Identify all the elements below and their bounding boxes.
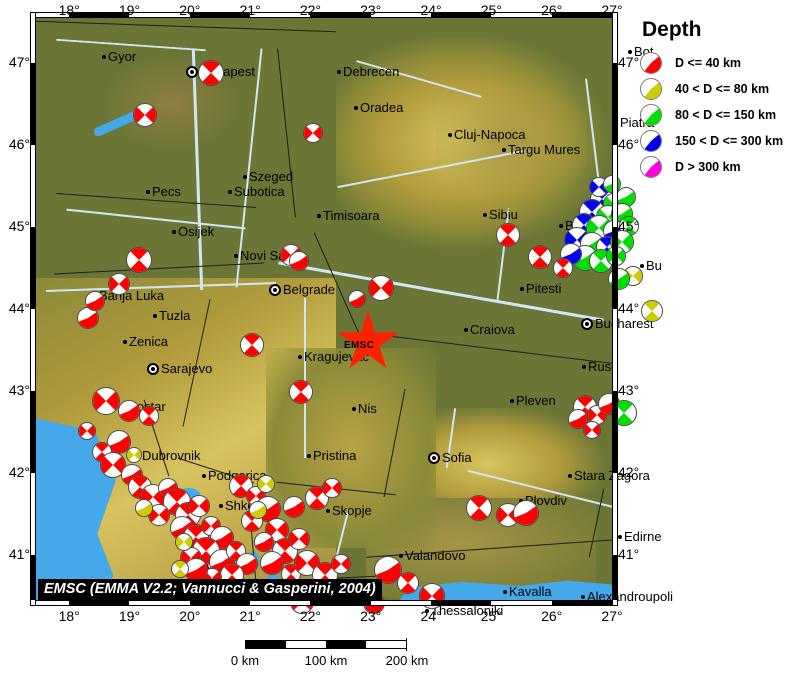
city-dot-icon [219, 504, 223, 508]
city-dot-icon [234, 254, 238, 258]
city-dot-icon [228, 190, 232, 194]
city-dot-icon [352, 407, 356, 411]
lat-tick-label: 47° [0, 54, 30, 70]
city-name: Pleven [516, 393, 556, 408]
city-dot-icon [581, 595, 585, 599]
city-name: Kavalla [509, 584, 552, 599]
scale-seg-1 [246, 641, 286, 648]
frame-tick-segment [613, 63, 617, 145]
focal-mechanism-icon [139, 406, 159, 426]
city-name: Skopje [332, 503, 372, 518]
legend-item-2: 80 < D <= 150 km [640, 102, 790, 128]
lon-tick-label: 21° [240, 2, 261, 18]
city-name: Bu [646, 258, 662, 273]
city-dot-icon [326, 509, 330, 513]
city-name: Belgrade [283, 282, 335, 297]
lon-tick-label: 20° [179, 608, 200, 624]
city-label-craiova: Craiova [464, 322, 515, 336]
city-name: Timisoara [323, 208, 380, 223]
focal-mechanism-icon [133, 103, 157, 127]
scale-seg-4 [366, 641, 406, 648]
scale-bar-labels: 0 km 100 km 200 km [245, 653, 407, 671]
city-dot-icon [582, 365, 586, 369]
lat-tick-label: 46° [618, 136, 639, 152]
focal-mechanism-icon [78, 422, 96, 440]
lon-tick-label: 22° [300, 608, 321, 624]
lat-tick-label: 41° [0, 546, 30, 562]
city-dot-icon [448, 133, 452, 137]
focal-mechanism-icon [640, 130, 662, 152]
legend-rows: D <= 40 km40 < D <= 80 km80 < D <= 150 k… [640, 50, 790, 180]
focal-mechanism-icon [419, 583, 445, 609]
focal-mechanism-icon [303, 123, 323, 143]
focal-mechanism-icon [175, 533, 193, 551]
focal-mechanism-icon [254, 532, 274, 552]
city-label-sofia: Sofia [428, 450, 472, 464]
city-label-pleven: Pleven [510, 393, 556, 407]
lon-tick-label: 19° [119, 2, 140, 18]
focal-mechanism-icon [108, 273, 130, 295]
lon-tick-label: 23° [360, 2, 381, 18]
city-name: Edirne [624, 529, 662, 544]
legend-item-label: 150 < D <= 300 km [675, 134, 783, 148]
city-label-valandovo: Valandovo [399, 548, 465, 562]
city-dot-icon [337, 70, 341, 74]
lat-tick-label: 46° [0, 136, 30, 152]
frame-tick-segment [190, 601, 250, 605]
city-name: Banja Luka [99, 288, 164, 303]
city-label-pecs: Pecs [146, 184, 181, 198]
focal-mechanism-icon [603, 175, 621, 193]
focal-mechanism-icon [257, 475, 275, 493]
city-label-debrecen: Debrecen [337, 64, 399, 78]
focal-mechanism-icon [568, 409, 588, 429]
legend-item-0: D <= 40 km [640, 50, 790, 76]
lon-tick-label: 25° [481, 608, 502, 624]
city-dot-icon [614, 121, 618, 125]
frame-tick-segment [31, 227, 35, 309]
city-label-nis: Nis [352, 401, 377, 415]
frame-tick-segment [69, 601, 129, 605]
lat-tick-label: 41° [618, 546, 639, 562]
city-name: Gyor [108, 49, 136, 64]
city-label-bu: Bu [640, 258, 662, 272]
city-label-edirne: Edirne [618, 529, 662, 543]
focal-mechanism-icon [289, 251, 309, 271]
city-name: Pristina [313, 448, 356, 463]
legend-item-label: 40 < D <= 80 km [675, 82, 769, 96]
focal-mechanism-icon [322, 478, 342, 498]
city-dot-icon [503, 590, 507, 594]
lon-tick-label: 26° [541, 608, 562, 624]
city-dot-icon [581, 318, 593, 330]
scale-bar: 0 km 100 km 200 km [245, 640, 407, 671]
city-dot-icon [269, 284, 281, 296]
focal-mechanism-icon [85, 291, 105, 311]
city-label-ruse: Ruse [582, 359, 618, 373]
city-name: Alexandroupoli [587, 589, 673, 604]
lat-tick-label: 42° [618, 464, 639, 480]
lon-tick-label: 22° [300, 2, 321, 18]
city-dot-icon [502, 148, 506, 152]
city-label-tuzla: Tuzla [153, 308, 190, 322]
city-label-kavalla: Kavalla [503, 584, 552, 598]
legend-item-3: 150 < D <= 300 km [640, 128, 790, 154]
focal-mechanism-icon [528, 245, 552, 269]
focal-mechanism-icon [331, 554, 351, 574]
lon-tick-label: 27° [601, 2, 622, 18]
city-label-osijek: Osijek [172, 224, 214, 238]
legend-item-label: D > 300 km [675, 160, 741, 174]
city-label-targu-mures: Targu Mures [502, 142, 580, 156]
lon-tick-label: 21° [240, 608, 261, 624]
lon-tick-label: 23° [360, 608, 381, 624]
epicenter-label: EMSC [344, 340, 374, 351]
city-label-dubrovnik: Dubrovnik [136, 448, 201, 462]
city-name: Oradea [360, 100, 403, 115]
lat-tick-label: 44° [0, 300, 30, 316]
city-dot-icon [640, 264, 644, 268]
scale-seg-2 [286, 641, 326, 648]
legend-item-1: 40 < D <= 80 km [640, 76, 790, 102]
scale-label-200: 200 km [386, 653, 429, 668]
city-dot-icon [510, 399, 514, 403]
city-name: Sibiu [489, 207, 518, 222]
lat-tick-label: 43° [618, 382, 639, 398]
focal-mechanism-icon [640, 156, 662, 178]
focal-mechanism-icon [640, 78, 662, 100]
city-name: Subotica [234, 184, 285, 199]
scale-label-0: 0 km [231, 653, 259, 668]
city-dot-icon [520, 287, 524, 291]
city-name: Dubrovnik [142, 448, 201, 463]
lat-tick-label: 43° [0, 382, 30, 398]
lon-tick-label: 24° [420, 2, 441, 18]
focal-mechanism-icon [611, 400, 637, 426]
lat-tick-label: 42° [0, 464, 30, 480]
scale-label-100: 100 km [305, 653, 348, 668]
city-label-pristina: Pristina [307, 448, 356, 462]
focal-mechanism-icon [397, 572, 419, 594]
focal-mechanism-icon [126, 247, 152, 273]
focal-mechanism-icon [348, 290, 366, 308]
city-name: Valandovo [405, 548, 465, 563]
city-label-skopje: Skopje [326, 503, 372, 517]
epicenter-marker[interactable]: EMSC [336, 310, 400, 374]
scale-end-tick [406, 638, 407, 651]
scale-bar-segments [245, 640, 407, 649]
lon-tick-label: 24° [420, 608, 441, 624]
city-name: Nis [358, 401, 377, 416]
lat-tick-label: 45° [0, 218, 30, 234]
city-name: Osijek [178, 224, 214, 239]
city-label-subotica: Subotica [228, 184, 285, 198]
city-dot-icon [123, 340, 127, 344]
focal-mechanism-icon [466, 495, 492, 521]
city-name: Szeged [249, 169, 293, 184]
lon-tick-label: 19° [119, 608, 140, 624]
frame-tick-segment [31, 391, 35, 473]
lat-tick-label: 45° [618, 218, 639, 234]
lon-tick-label: 27° [601, 608, 622, 624]
focal-mechanism-icon [126, 447, 142, 463]
city-label-alexandroupoli: Alexandroupoli [581, 589, 673, 603]
city-name: Pitesti [526, 281, 561, 296]
focal-mechanism-icon [92, 387, 120, 415]
city-dot-icon [147, 363, 159, 375]
city-dot-icon [146, 190, 150, 194]
city-dot-icon [464, 328, 468, 332]
focal-mechanism-icon [513, 500, 539, 526]
city-name: Debrecen [343, 64, 399, 79]
focal-mechanism-icon [641, 300, 663, 322]
city-dot-icon [298, 355, 302, 359]
city-dot-icon [153, 314, 157, 318]
city-name: Pecs [152, 184, 181, 199]
focal-mechanism-icon [118, 400, 140, 422]
city-name: Zenica [129, 334, 168, 349]
lon-tick-label: 26° [541, 2, 562, 18]
city-name: Targu Mures [508, 142, 580, 157]
focal-mechanism-icon [171, 560, 189, 578]
city-dot-icon [102, 55, 106, 59]
focal-mechanism-icon [368, 275, 394, 301]
earthquake-map: GyorBudapestDebrecenOradeaCluj-NapocaTar… [36, 18, 612, 600]
city-name: Cluj-Napoca [454, 127, 526, 142]
city-dot-icon [568, 474, 572, 478]
city-dot-icon [354, 106, 358, 110]
city-label-gyor: Gyor [102, 49, 136, 63]
focal-mechanism-icon [289, 380, 313, 404]
legend-item-4: D > 300 km [640, 154, 790, 180]
focal-mechanism-icon [288, 528, 310, 550]
city-name: Ruse [588, 359, 618, 374]
focal-mechanism-icon [249, 501, 267, 519]
city-dot-icon [186, 66, 198, 78]
focal-mechanism-icon [283, 496, 305, 518]
focal-mechanism-icon [553, 258, 573, 278]
river-morava [304, 298, 306, 458]
city-label-timisoara: Timisoara [317, 208, 380, 222]
focal-mechanism-icon [188, 495, 210, 517]
city-label-szeged: Szeged [243, 169, 293, 183]
city-dot-icon [317, 214, 321, 218]
city-dot-icon [483, 213, 487, 217]
focal-mechanism-icon [640, 104, 662, 126]
attribution-banner: EMSC (EMMA V2.2; Vannucci & Gasperini, 2… [38, 579, 382, 600]
focal-mechanism-icon [606, 246, 626, 266]
city-label-zenica: Zenica [123, 334, 168, 348]
city-dot-icon [428, 452, 440, 464]
legend-title: Depth [642, 18, 790, 42]
lon-tick-label: 25° [481, 2, 502, 18]
frame-tick-segment [31, 63, 35, 145]
focal-mechanism-icon [135, 499, 153, 517]
city-name: Sarajevo [161, 361, 212, 376]
city-dot-icon [243, 175, 247, 179]
city-label-sibiu: Sibiu [483, 207, 518, 221]
lon-tick-label: 20° [179, 2, 200, 18]
city-name: Sofia [442, 450, 472, 465]
focal-mechanism-icon [496, 223, 520, 247]
city-name: Tuzla [159, 308, 190, 323]
focal-mechanism-icon [198, 60, 224, 86]
city-dot-icon [399, 554, 403, 558]
city-dot-icon [307, 454, 311, 458]
lat-tick-label: 47° [618, 54, 639, 70]
frame-tick-segment [31, 555, 35, 600]
lat-tick-label: 44° [618, 300, 639, 316]
city-dot-icon [628, 50, 632, 54]
depth-legend: Depth D <= 40 km40 < D <= 80 km80 < D <=… [640, 18, 790, 180]
city-label-sarajevo: Sarajevo [147, 361, 212, 375]
lon-tick-label: 18° [59, 608, 80, 624]
city-dot-icon [559, 224, 563, 228]
city-dot-icon [202, 474, 206, 478]
focal-mechanism-icon [640, 52, 662, 74]
focal-mechanism-icon [240, 333, 264, 357]
city-label-belgrade: Belgrade [269, 282, 335, 296]
city-dot-icon [618, 535, 622, 539]
lon-tick-label: 18° [59, 2, 80, 18]
legend-item-label: 80 < D <= 150 km [675, 108, 776, 122]
legend-item-label: D <= 40 km [675, 56, 741, 70]
city-label-pitesti: Pitesti [520, 281, 561, 295]
city-label-oradea: Oradea [354, 100, 403, 114]
city-name: Craiova [470, 322, 515, 337]
scale-seg-3 [326, 641, 366, 648]
city-label-cluj-napoca: Cluj-Napoca [448, 127, 526, 141]
city-dot-icon [172, 230, 176, 234]
frame-band-bot [30, 600, 618, 606]
